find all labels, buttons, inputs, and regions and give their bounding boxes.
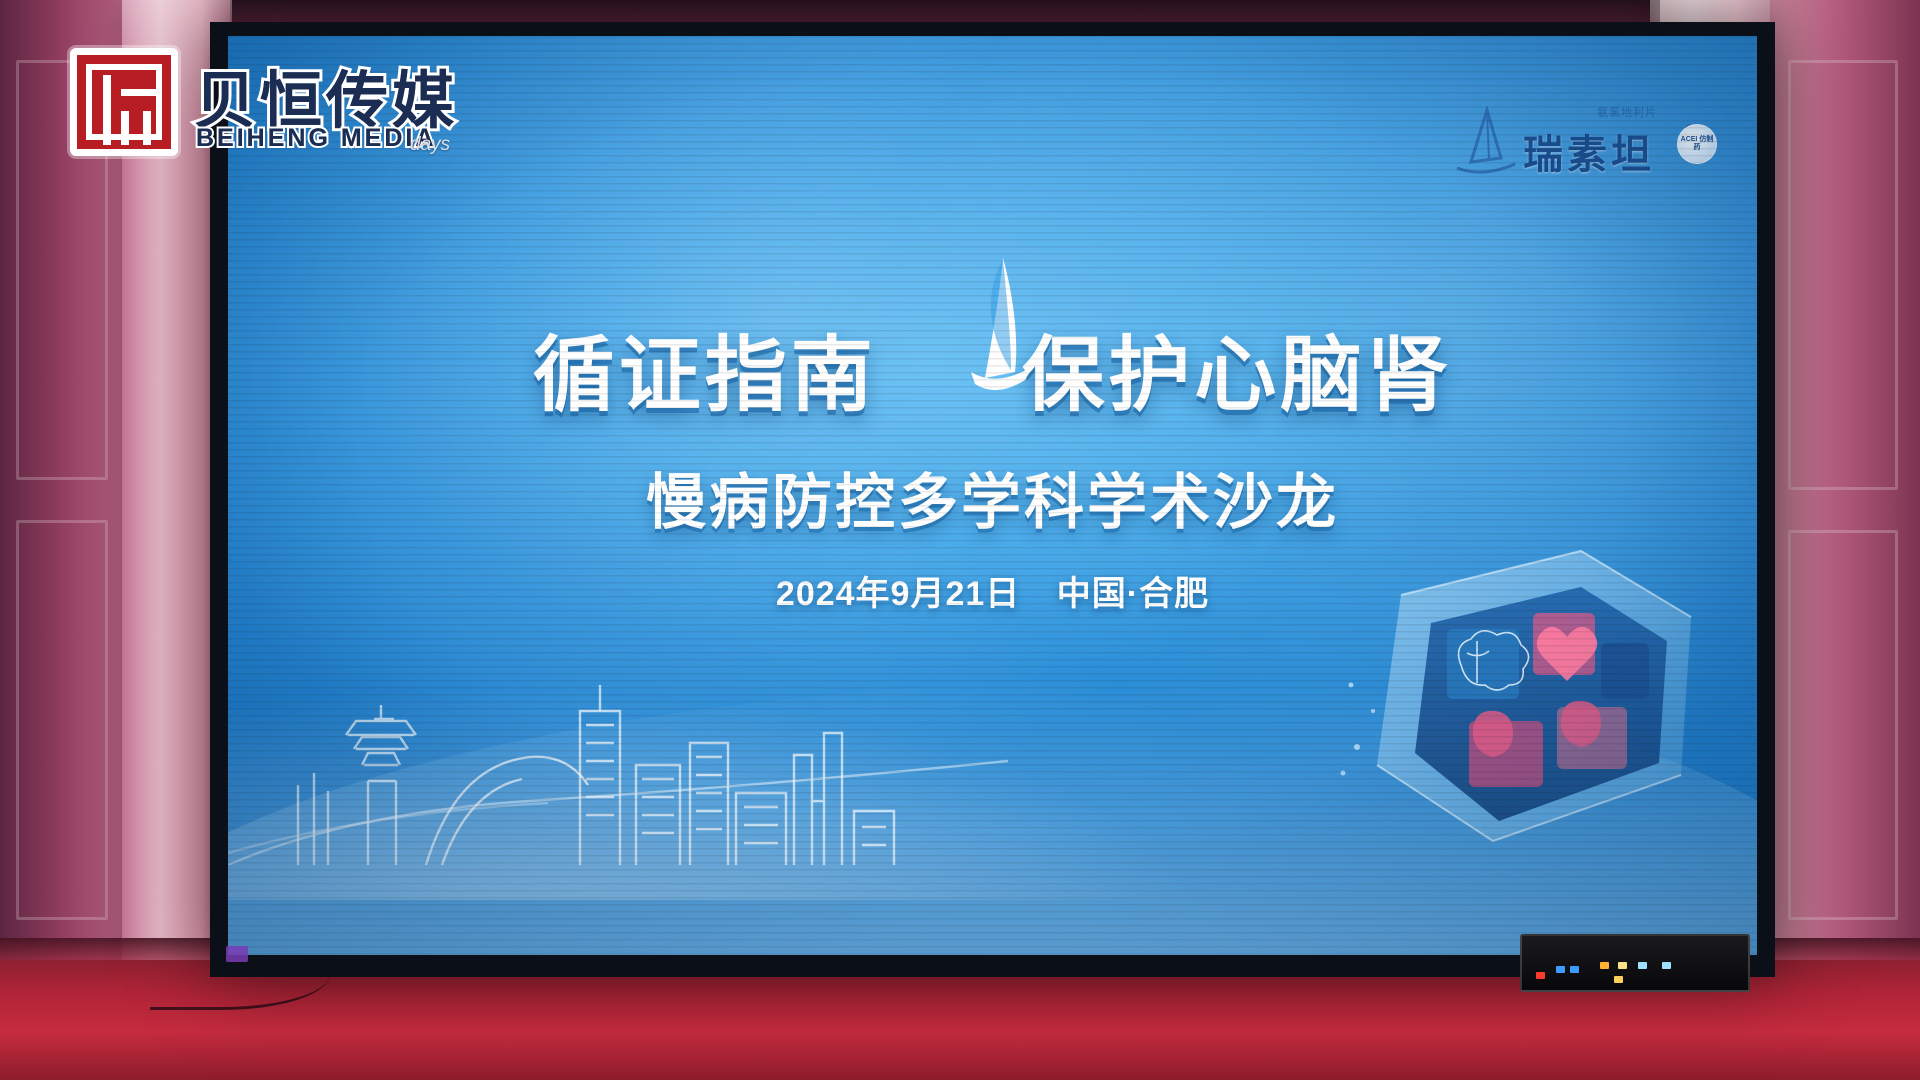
hefei-skyline-icon bbox=[228, 615, 1008, 865]
event-headline: 循证指南 保护心脑肾 bbox=[228, 308, 1757, 427]
seal-stamp-icon bbox=[70, 48, 178, 156]
award-seal-icon: ACEI 仿制药 bbox=[1677, 124, 1717, 164]
medical-organ-display-icon bbox=[1281, 525, 1711, 865]
watermark-tagline: days bbox=[410, 134, 450, 156]
brand-name: 瑞素坦 bbox=[1523, 122, 1655, 180]
brand-tagline: 氨氯地利片 bbox=[1597, 104, 1657, 120]
led-screen: 氨氯地利片 瑞素坦 ® ACEI 仿制药 循证指南 保护心脑肾 慢病防控多学科学… bbox=[228, 36, 1757, 955]
wall-panel-right-upper bbox=[1788, 60, 1898, 490]
event-date: 2024年9月21日 bbox=[776, 575, 1020, 613]
watermark: 贝恒传媒 贝恒传媒 BEIHENG MEDIA BEIHENG MEDIA da… bbox=[58, 38, 518, 168]
product-brand-logo: 氨氯地利片 瑞素坦 ® ACEI 仿制药 bbox=[1449, 98, 1699, 190]
sail-mark-icon bbox=[1449, 106, 1525, 180]
wall-panel-left-lower bbox=[16, 520, 108, 920]
speaker-icon bbox=[226, 946, 248, 962]
wall-panel-right-lower bbox=[1788, 530, 1898, 920]
headline-right: 保护心脑肾 bbox=[1022, 308, 1452, 427]
av-rack-icon bbox=[1520, 934, 1750, 992]
headline-left: 循证指南 bbox=[533, 308, 877, 427]
watermark-brand-en: BEIHENG MEDIA bbox=[196, 124, 436, 153]
screenshot-stage: 氨氯地利片 瑞素坦 ® ACEI 仿制药 循证指南 保护心脑肾 慢病防控多学科学… bbox=[0, 0, 1920, 1080]
event-location: 中国·合肥 bbox=[1057, 575, 1209, 613]
